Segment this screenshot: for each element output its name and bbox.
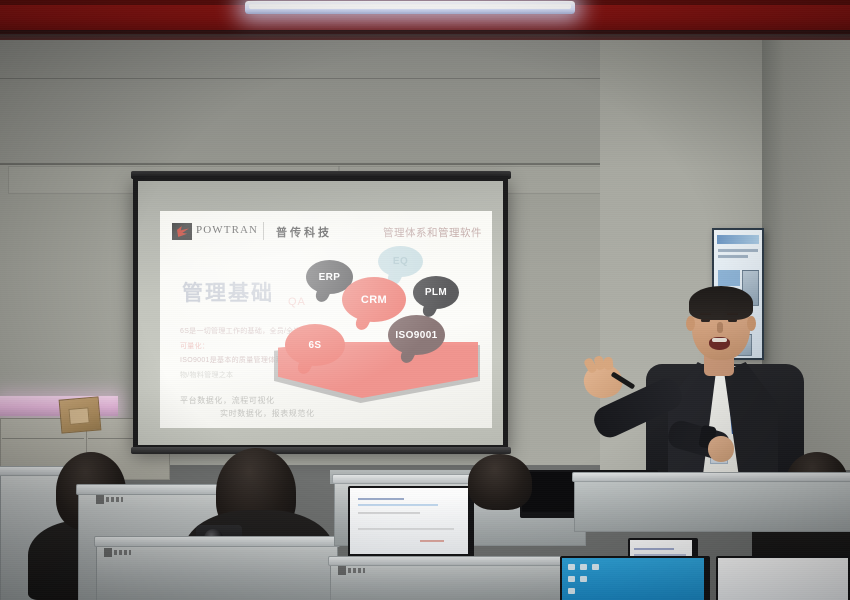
slide-footer-line-1: 平台数据化，流程可视化 — [180, 395, 275, 406]
projection-screen-bottom-bar — [131, 447, 511, 454]
presenter-nose — [717, 322, 723, 333]
cubicle-partition-cap — [328, 556, 564, 566]
cardboard-box — [59, 396, 102, 433]
presenter-lower-hand — [708, 436, 734, 462]
poster-header-band — [717, 235, 759, 244]
powtran-logo-icon — [104, 548, 132, 557]
presenter-eye — [728, 319, 737, 322]
presenter-finger — [603, 357, 613, 371]
bubble-plm: PLM — [413, 276, 459, 309]
presenter-eyebrow — [727, 313, 738, 315]
cubicle-partition-cap — [572, 472, 850, 482]
cubicle-partition — [96, 540, 338, 600]
monitor-screen[interactable] — [350, 488, 468, 554]
wall-seam-upper — [0, 78, 620, 79]
presenter-eyebrow — [700, 313, 711, 315]
slide-header-subject: 管理体系和管理软件 — [383, 225, 482, 240]
presenter-ear — [686, 316, 695, 331]
bubble-6s: 6S — [285, 324, 345, 366]
bubble-crm: CRM — [342, 277, 406, 322]
brand-divider — [263, 222, 264, 240]
presenter-ear — [747, 316, 756, 331]
ceiling-light-tube-icon — [245, 1, 575, 14]
brand-name-cn: 普传科技 — [276, 224, 332, 240]
bubble-iso9001: ISO9001 — [388, 315, 445, 355]
slide-title: 管理基础 — [182, 277, 274, 307]
powtran-logo-icon — [96, 495, 124, 504]
presenter-eye — [701, 319, 710, 322]
cubicle-partition — [574, 476, 850, 532]
audience-head-back — [468, 454, 532, 510]
presenter-hair — [689, 286, 753, 320]
slide-footer-line-2: 实时数据化，报表规范化 — [220, 408, 315, 419]
presentation-photo-scene: POWTRAN 普传科技 管理体系和管理软件 管理基础 6S是一切管理工作的基础… — [0, 0, 850, 600]
monitor-screen[interactable] — [562, 558, 704, 600]
bubble-eq: EQ — [378, 246, 423, 277]
qa-ghost-label: QA — [288, 296, 306, 308]
monitor[interactable] — [348, 486, 474, 560]
presentation-slide: POWTRAN 普传科技 管理体系和管理软件 管理基础 6S是一切管理工作的基础… — [160, 211, 492, 428]
monitor-screen[interactable] — [718, 558, 848, 600]
monitor[interactable] — [560, 556, 710, 600]
presenter-mouth — [709, 337, 730, 350]
poster-text-line — [718, 249, 758, 252]
slide-body-line: 6S是一切管理工作的基础，全员/全岗位参与 — [180, 325, 380, 340]
poster-highlight-box — [718, 270, 740, 286]
cubicle-partition-cap — [94, 536, 340, 547]
powtran-logo-icon — [338, 566, 366, 575]
monitor[interactable] — [716, 556, 850, 600]
powtran-flame-logo-icon — [172, 223, 192, 240]
brand-wordmark: POWTRAN — [196, 224, 258, 236]
poster-text-line — [718, 255, 748, 258]
cabinet-seam — [2, 438, 84, 439]
